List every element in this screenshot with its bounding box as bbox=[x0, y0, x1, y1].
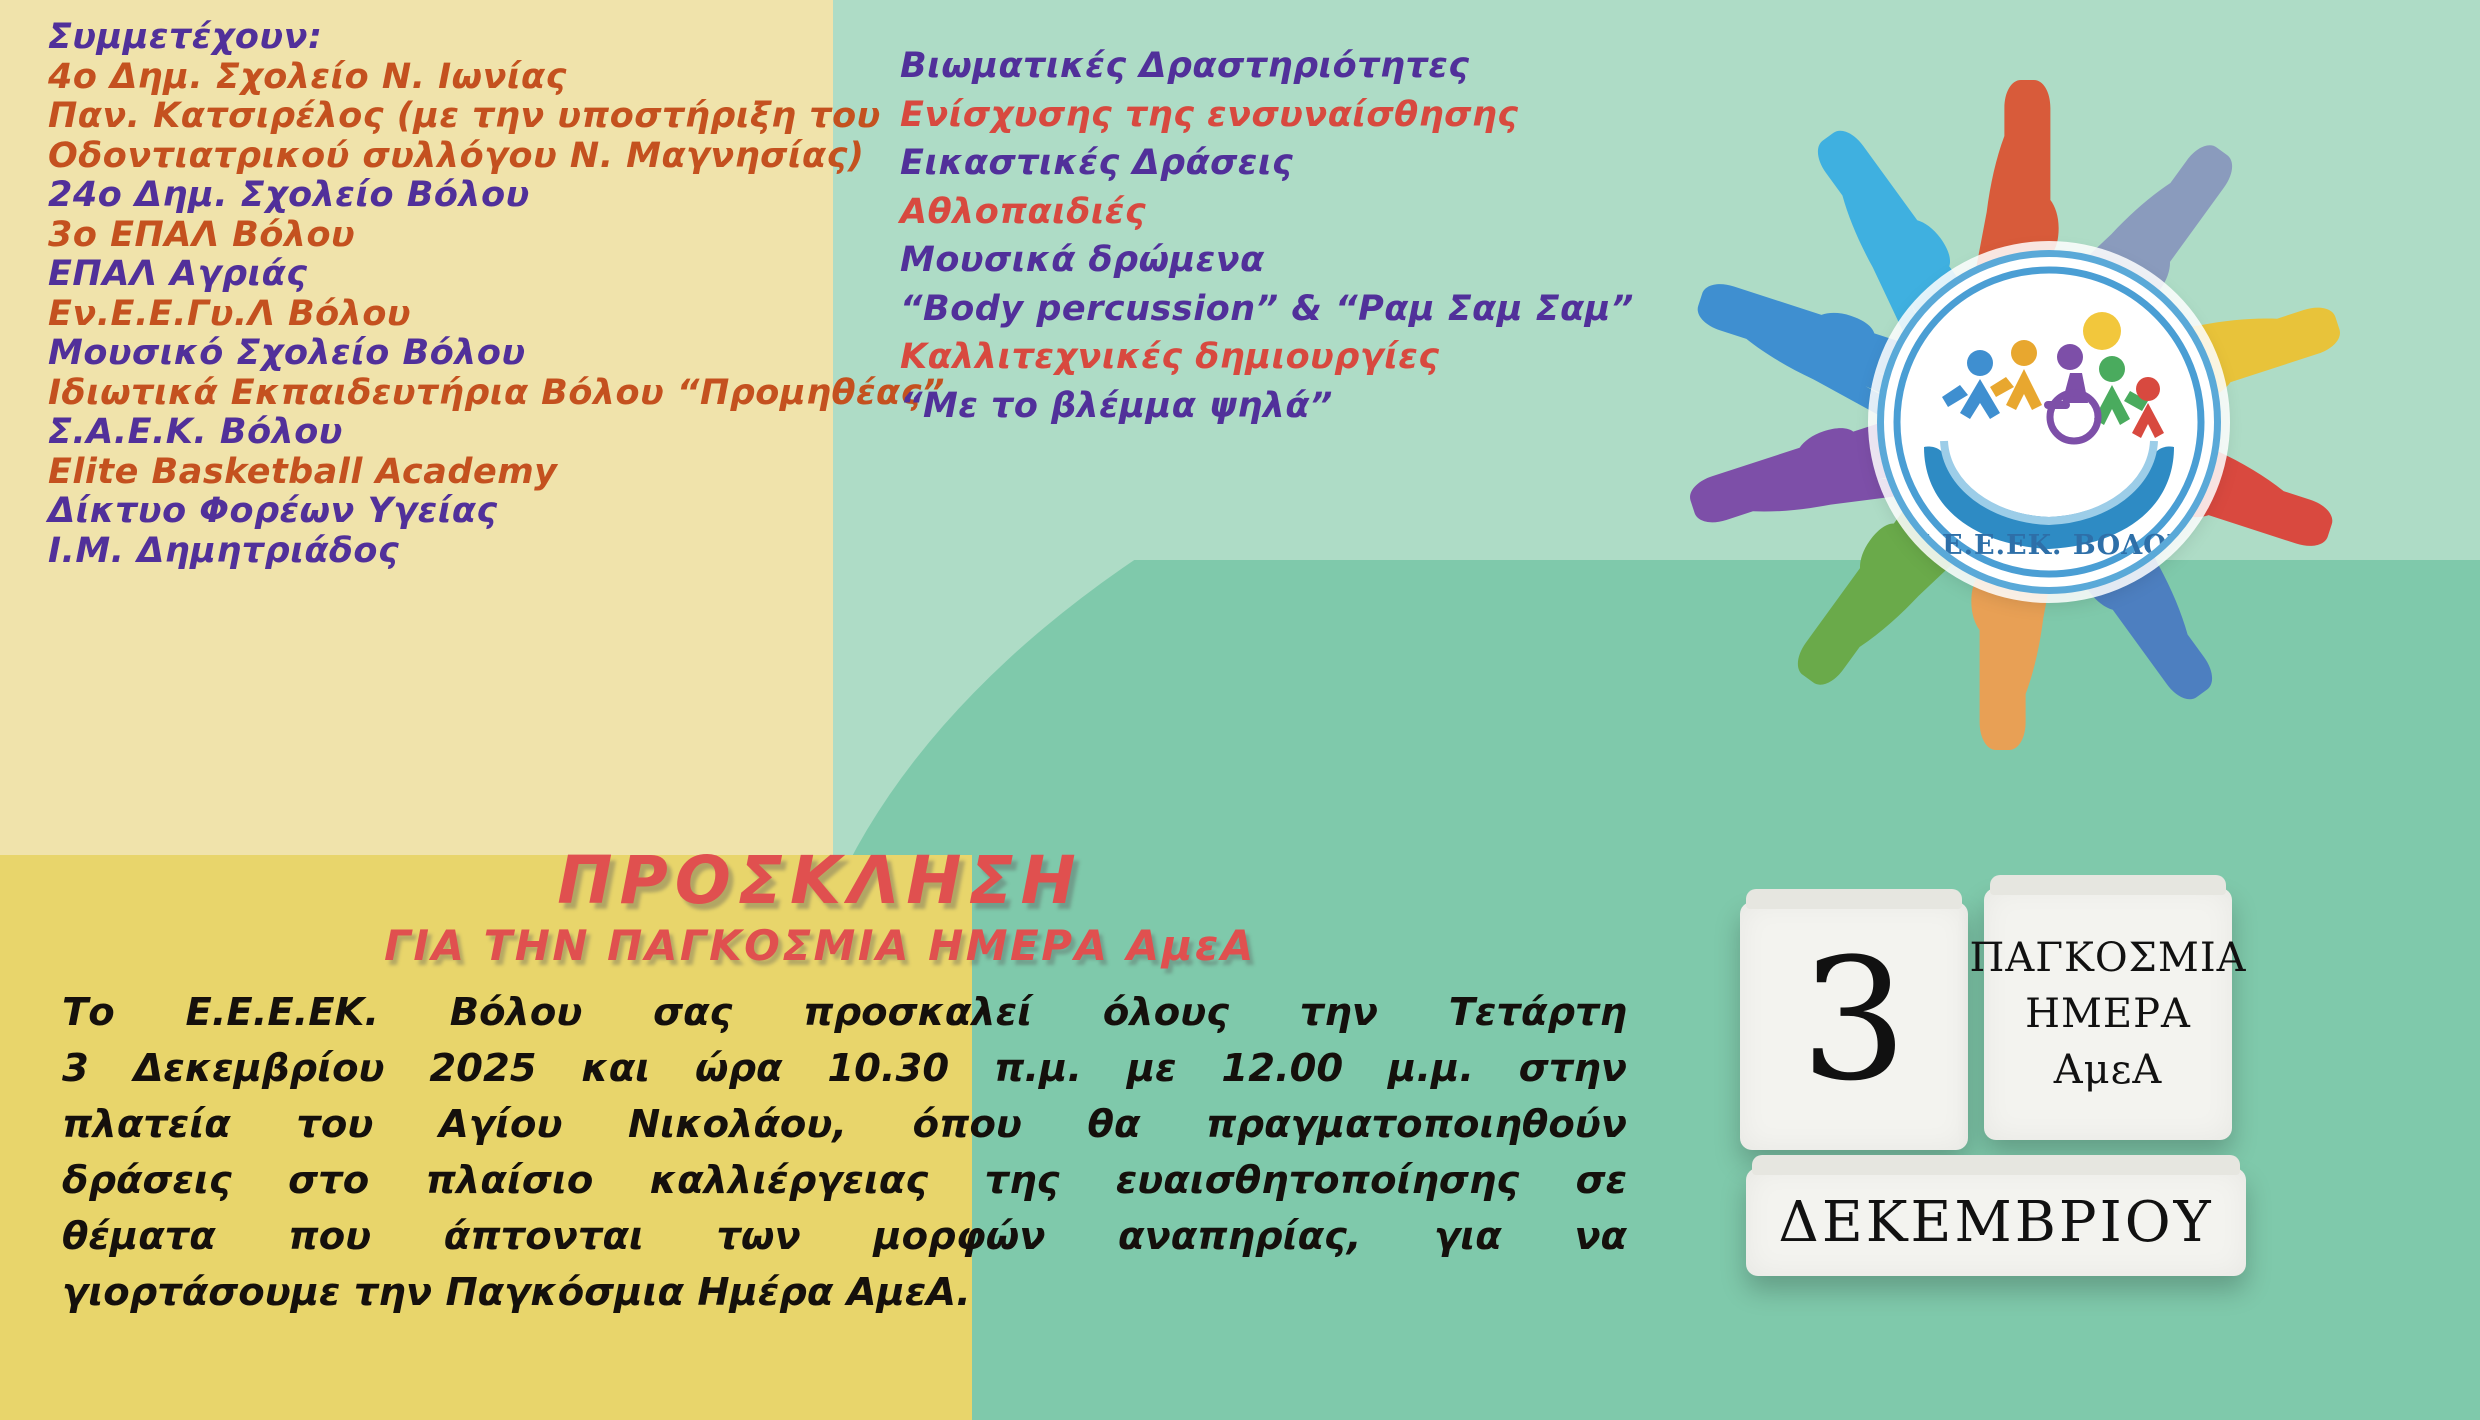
logo-label: Ε.Ε.Ε.ΕΚ. ΒΟΛΟΥ bbox=[1884, 530, 2214, 561]
participant-item: ΕΠΑΛ Αγριάς bbox=[48, 255, 838, 295]
cube-top-edge bbox=[1752, 1155, 2240, 1175]
invitation-body-text: Το Ε.Ε.Ε.ΕΚ. Βόλου σας προσκαλεί όλους τ… bbox=[62, 985, 1627, 1321]
date-cube-day-value: 3 bbox=[1801, 936, 1908, 1104]
cube-top-edge bbox=[1990, 875, 2226, 895]
activity-item: “Με το βλέμμα ψηλά” bbox=[900, 382, 1660, 431]
body-line: δράσεις στο πλαίσιο καλλιέργειας της ευα… bbox=[62, 1153, 1627, 1209]
date-cube-words: ΠΑΓΚΟΣΜΙΑ ΗΜΕΡΑ ΑμεΑ bbox=[1984, 888, 2232, 1140]
participants-column: Συμμετέχουν:4ο Δημ. Σχολείο Ν. ΙωνίαςΠαν… bbox=[48, 18, 838, 571]
body-line: γιορτάσουμε την Παγκόσμια Ημέρα ΑμεΑ. bbox=[62, 1265, 1627, 1321]
activity-item: Μουσικά δρώμενα bbox=[900, 236, 1660, 285]
body-line: 3 Δεκεμβρίου 2025 και ώρα 10.30 π.μ. με … bbox=[62, 1041, 1627, 1097]
body-line: θέματα που άπτονται των μορφών αναπηρίας… bbox=[62, 1209, 1627, 1265]
participant-item: 24ο Δημ. Σχολείο Βόλου bbox=[48, 176, 838, 216]
participant-item: Παν. Κατσιρέλος (με την υποστήριξη του bbox=[48, 97, 838, 137]
date-cube-month-value: ΔΕΚΕΜΒΡΙΟΥ bbox=[1778, 1190, 2213, 1255]
date-cube-word-3: ΑμεΑ bbox=[2054, 1044, 2163, 1096]
participant-item: Elite Basketball Academy bbox=[48, 453, 838, 493]
poster-root: Συμμετέχουν:4ο Δημ. Σχολείο Ν. ΙωνίαςΠαν… bbox=[0, 0, 2480, 1420]
participant-item: Εν.Ε.Ε.Γυ.Λ Βόλου bbox=[48, 295, 838, 335]
activity-item: Βιωματικές Δραστηριότητες bbox=[900, 42, 1660, 91]
date-cube-word-1: ΠΑΓΚΟΣΜΙΑ bbox=[1969, 932, 2246, 984]
date-cubes-graphic: 3 ΠΑΓΚΟΣΜΙΑ ΗΜΕΡΑ ΑμεΑ ΔΕΚΕΜΒΡΙΟΥ bbox=[1740, 880, 2300, 1300]
body-line: Το Ε.Ε.Ε.ΕΚ. Βόλου σας προσκαλεί όλους τ… bbox=[62, 985, 1627, 1041]
activities-column: Βιωματικές ΔραστηριότητεςΕνίσχυσης της ε… bbox=[900, 42, 1660, 430]
activity-item: Καλλιτεχνικές δημιουργίες bbox=[900, 333, 1660, 382]
activity-item: “Body percussion” & “Ραμ Σαμ Σαμ” bbox=[900, 285, 1660, 334]
participant-item: 4ο Δημ. Σχολείο Ν. Ιωνίας bbox=[48, 58, 838, 98]
participant-item: Σ.Α.Ε.Κ. Βόλου bbox=[48, 413, 838, 453]
activity-item: Αθλοπαιδιές bbox=[900, 188, 1660, 237]
participant-item: 3ο ΕΠΑΛ Βόλου bbox=[48, 216, 838, 256]
cube-top-edge bbox=[1746, 889, 1962, 909]
participant-item: Ι.Μ. Δημητριάδος bbox=[48, 532, 838, 572]
participant-item: Ιδιωτικά Εκπαιδευτήρια Βόλου “Προμηθέας” bbox=[48, 374, 838, 414]
participants-heading: Συμμετέχουν: bbox=[48, 18, 838, 58]
activity-item: Ενίσχυσης της ενσυναίσθησης bbox=[900, 91, 1660, 140]
activity-item: Εικαστικές Δράσεις bbox=[900, 139, 1660, 188]
body-line: πλατεία του Αγίου Νικολάου, όπου θα πραγ… bbox=[62, 1097, 1627, 1153]
headline-block: ΠΡΟΣΚΛΗΣΗ ΓΙΑ ΤΗΝ ΠΑΓΚΟΣΜΙΑ ΗΜΕΡΑ ΑμεΑ bbox=[0, 845, 1640, 975]
eeeek-volou-logo: Ε.Ε.Ε.ΕΚ. ΒΟΛΟΥ bbox=[1877, 250, 2221, 594]
page-subtitle: ΓΙΑ ΤΗΝ ΠΑΓΚΟΣΜΙΑ ΗΜΕΡΑ ΑμεΑ bbox=[0, 917, 1640, 975]
date-cube-day: 3 bbox=[1740, 902, 1968, 1150]
date-cube-month: ΔΕΚΕΜΒΡΙΟΥ bbox=[1746, 1168, 2246, 1276]
participant-item: Δίκτυο Φορέων Υγείας bbox=[48, 492, 838, 532]
date-cube-word-2: ΗΜΕΡΑ bbox=[2025, 988, 2191, 1040]
participant-item: Οδοντιατρικού συλλόγου Ν. Μαγνησίας) bbox=[48, 137, 838, 177]
page-title: ΠΡΟΣΚΛΗΣΗ bbox=[0, 845, 1640, 917]
participant-item: Μουσικό Σχολείο Βόλου bbox=[48, 334, 838, 374]
